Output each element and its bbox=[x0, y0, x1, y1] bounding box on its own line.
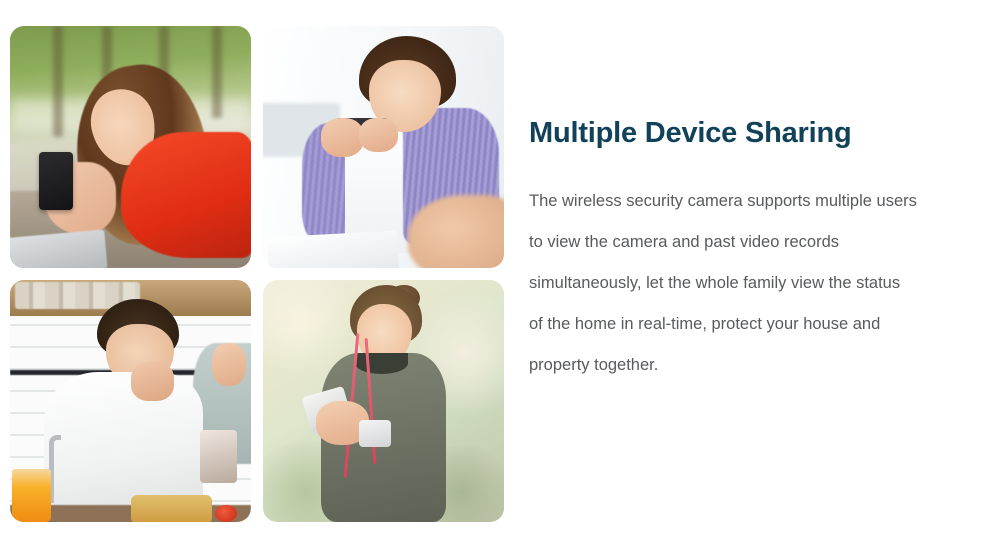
hand-at-mouth bbox=[131, 362, 174, 401]
sandwich bbox=[131, 495, 213, 522]
orange-juice-glass bbox=[12, 469, 51, 522]
smartwatch bbox=[359, 420, 390, 447]
photo-woman-red-top bbox=[10, 26, 251, 268]
red-tank-top bbox=[121, 132, 251, 258]
description-line: of the home in real-time, protect your h… bbox=[529, 304, 981, 345]
feature-text-column: Multiple Device Sharing The wireless sec… bbox=[529, 118, 981, 386]
smartphone bbox=[200, 430, 236, 483]
tomato bbox=[215, 505, 237, 522]
photo-grid bbox=[10, 26, 504, 522]
product-feature-panel: Multiple Device Sharing The wireless sec… bbox=[0, 0, 1000, 550]
hand-right bbox=[359, 118, 398, 152]
smartphone bbox=[39, 152, 73, 210]
description-line: property together. bbox=[529, 345, 981, 386]
description-line: to view the camera and past video record… bbox=[529, 222, 981, 263]
description-line: simultaneously, let the whole family vie… bbox=[529, 263, 981, 304]
hand-left bbox=[321, 118, 364, 157]
papers-on-desk bbox=[267, 231, 399, 268]
page-title: Multiple Device Sharing bbox=[529, 118, 981, 150]
photo-man-kitchen bbox=[10, 280, 251, 522]
photo-woman-earphones bbox=[263, 280, 504, 522]
second-person-hand bbox=[212, 343, 246, 387]
description-line: The wireless security camera supports mu… bbox=[529, 181, 981, 222]
tree-trunk-icon bbox=[53, 26, 63, 137]
feature-description: The wireless security camera supports mu… bbox=[529, 181, 981, 386]
photo-man-purple-shirt bbox=[263, 26, 504, 268]
tree-trunk-icon bbox=[212, 26, 222, 118]
